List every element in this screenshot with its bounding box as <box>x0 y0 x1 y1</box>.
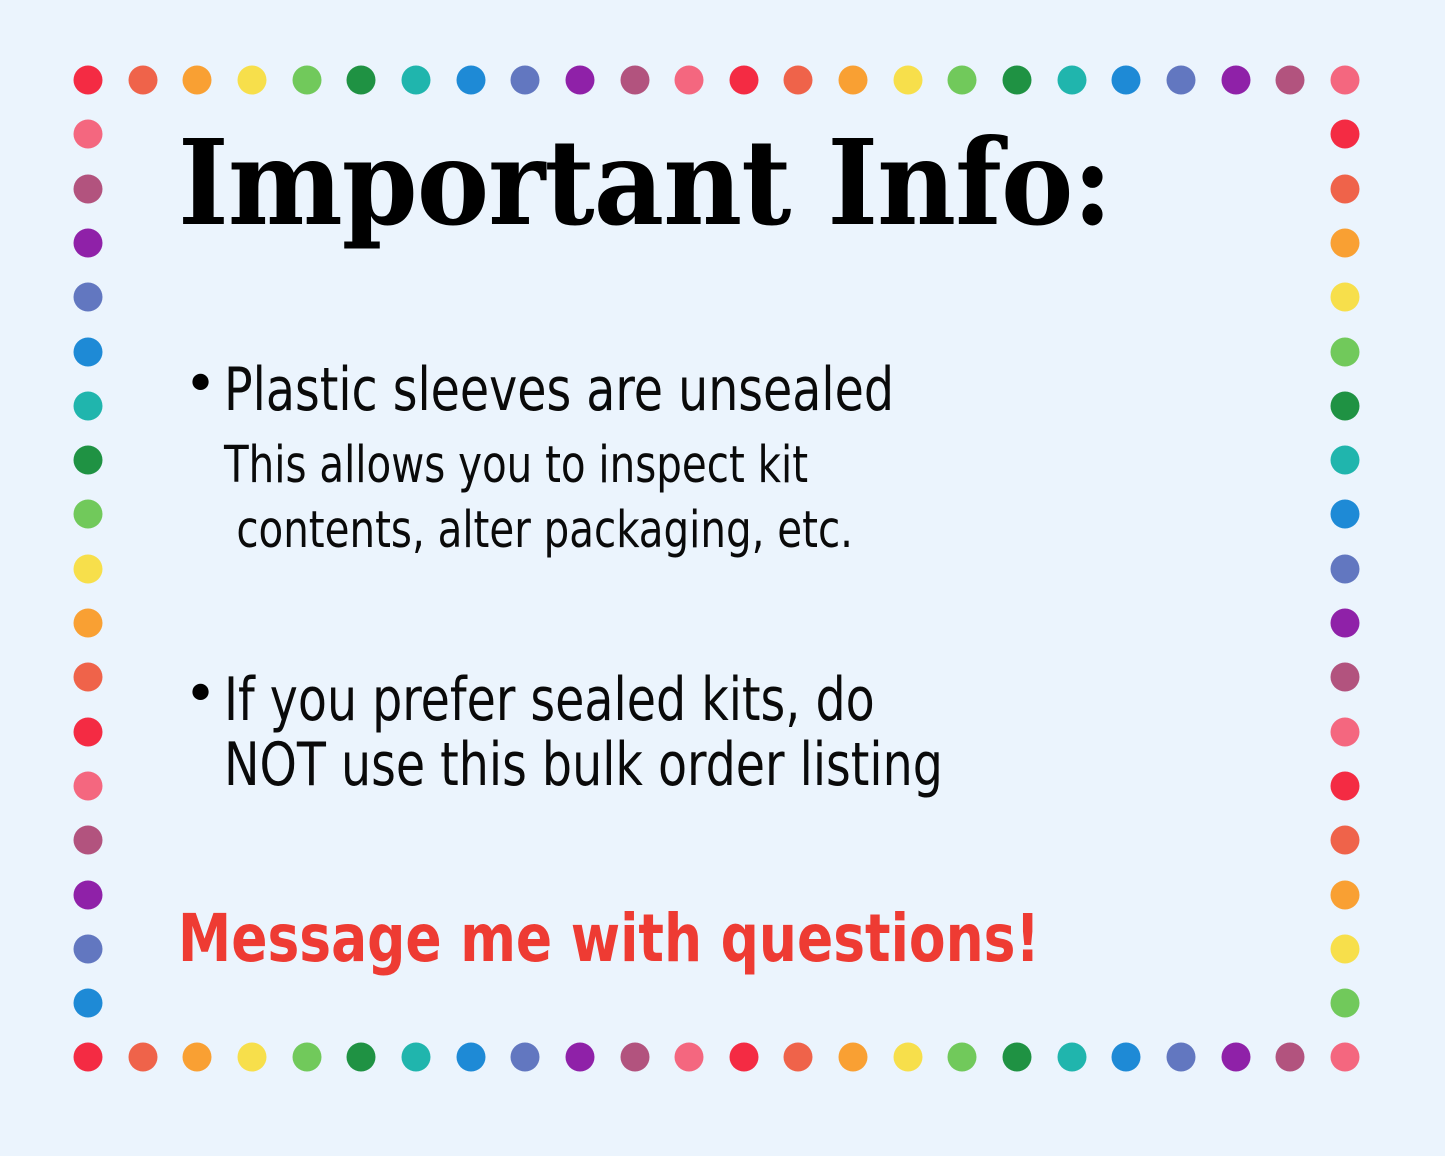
border-dot-coral-top-13 <box>784 66 813 95</box>
border-dot-periwinkle-top-20 <box>1167 66 1196 95</box>
poster-canvas: Important Info: • Plastic sleeves are un… <box>0 0 1445 1156</box>
border-dot-yellow-right-16 <box>1330 934 1359 963</box>
border-dot-red-right-13 <box>1330 771 1359 800</box>
border-dot-orange-left-10 <box>74 609 103 638</box>
border-dot-periwinkle-left-16 <box>74 934 103 963</box>
border-dot-red-top-12 <box>729 66 758 95</box>
border-dot-light-green-top-4 <box>292 66 321 95</box>
bullet-marker-icon: • <box>178 668 224 721</box>
border-dot-periwinkle-left-4 <box>74 283 103 312</box>
border-dot-purple-top-21 <box>1221 66 1250 95</box>
border-dot-dark-green-right-6 <box>1330 391 1359 420</box>
border-dot-dark-green-top-17 <box>1003 66 1032 95</box>
border-dot-dark-green-left-7 <box>74 446 103 475</box>
bullet-1-text: Plastic sleeves are unsealed <box>224 358 1196 423</box>
border-dot-purple-right-10 <box>1330 609 1359 638</box>
border-dot-teal-left-6 <box>74 391 103 420</box>
bullet-2-text: If you prefer sealed kits, do NOT use th… <box>224 668 1196 798</box>
border-dot-red-bottom-0 <box>74 1043 103 1072</box>
border-dot-light-green-right-5 <box>1330 337 1359 366</box>
bullet-marker-icon: • <box>178 358 224 411</box>
contact-call-to-action: Message me with questions! <box>178 906 1213 972</box>
bullet-2-text-line-2: NOT use this bulk order listing <box>224 730 943 800</box>
border-dot-orange-top-14 <box>839 66 868 95</box>
bullet-item-2: • If you prefer sealed kits, do NOT use … <box>178 668 1328 798</box>
border-dot-yellow-top-15 <box>893 66 922 95</box>
border-dot-red-right-1 <box>1330 120 1359 149</box>
border-dot-blue-top-19 <box>1112 66 1141 95</box>
page-title: Important Info: <box>178 124 1185 242</box>
border-dot-yellow-left-9 <box>74 554 103 583</box>
border-dot-mauve-top-22 <box>1276 66 1305 95</box>
poster-content: Important Info: • Plastic sleeves are un… <box>118 96 1328 1061</box>
border-dot-blue-right-8 <box>1330 500 1359 529</box>
border-dot-orange-top-2 <box>183 66 212 95</box>
border-dot-periwinkle-right-9 <box>1330 554 1359 583</box>
bullet-1-subtext-line-2: contents, alter packaging, etc. <box>224 498 1104 563</box>
border-dot-dark-green-top-5 <box>347 66 376 95</box>
border-dot-coral-right-14 <box>1330 826 1359 855</box>
border-dot-light-green-right-17 <box>1330 989 1359 1018</box>
border-dot-pink-right-12 <box>1330 717 1359 746</box>
border-dot-mauve-left-14 <box>74 826 103 855</box>
bullet-item-1: • Plastic sleeves are unsealed This allo… <box>178 358 1328 563</box>
border-dot-yellow-right-4 <box>1330 283 1359 312</box>
border-dot-mauve-right-11 <box>1330 663 1359 692</box>
border-dot-periwinkle-top-8 <box>511 66 540 95</box>
border-dot-red-top-0 <box>74 66 103 95</box>
border-dot-pink-left-1 <box>74 120 103 149</box>
border-dot-purple-top-9 <box>565 66 594 95</box>
border-dot-mauve-top-10 <box>620 66 649 95</box>
border-dot-coral-left-11 <box>74 663 103 692</box>
bullet-2-text-line-1: If you prefer sealed kits, do <box>224 665 875 735</box>
border-dot-pink-top-11 <box>675 66 704 95</box>
border-dot-purple-left-15 <box>74 880 103 909</box>
bullet-1-subtext: This allows you to inspect kit contents,… <box>224 433 1104 564</box>
border-dot-teal-top-18 <box>1057 66 1086 95</box>
bullet-1-subtext-line-1: This allows you to inspect kit <box>224 436 808 495</box>
border-dot-yellow-top-3 <box>237 66 266 95</box>
border-dot-orange-right-3 <box>1330 228 1359 257</box>
border-dot-coral-top-1 <box>128 66 157 95</box>
bullet-row: • Plastic sleeves are unsealed <box>178 358 1328 423</box>
border-dot-teal-right-7 <box>1330 446 1359 475</box>
border-dot-purple-left-3 <box>74 228 103 257</box>
border-dot-mauve-left-2 <box>74 174 103 203</box>
border-dot-light-green-top-16 <box>948 66 977 95</box>
border-dot-blue-left-17 <box>74 989 103 1018</box>
bullet-row: • If you prefer sealed kits, do NOT use … <box>178 668 1328 798</box>
border-dot-blue-top-7 <box>456 66 485 95</box>
border-dot-pink-top-23 <box>1330 66 1359 95</box>
border-dot-light-green-left-8 <box>74 500 103 529</box>
border-dot-pink-bottom-23 <box>1330 1043 1359 1072</box>
border-dot-pink-left-13 <box>74 771 103 800</box>
border-dot-teal-top-6 <box>401 66 430 95</box>
border-dot-blue-left-5 <box>74 337 103 366</box>
border-dot-coral-right-2 <box>1330 174 1359 203</box>
border-dot-orange-right-15 <box>1330 880 1359 909</box>
border-dot-red-left-12 <box>74 717 103 746</box>
